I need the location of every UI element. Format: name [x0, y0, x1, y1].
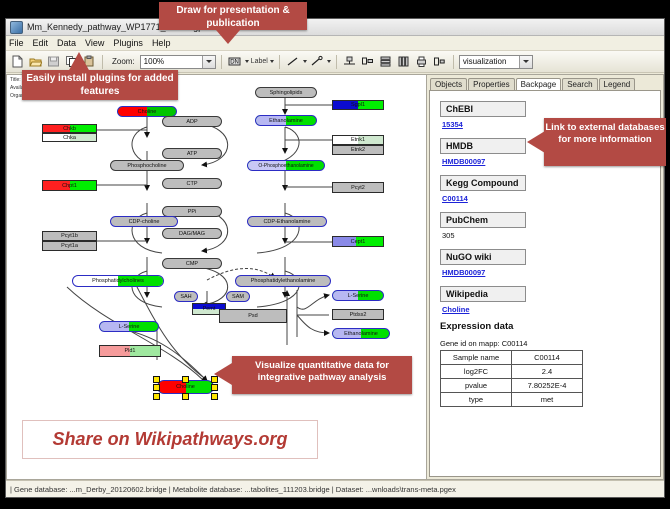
chevron-down-icon[interactable]	[519, 56, 532, 68]
menu-item-file[interactable]: File	[9, 38, 24, 48]
callout-draw: Draw for presentation & publication	[159, 2, 307, 30]
stack-icon[interactable]	[378, 54, 394, 70]
db-header-hmdb: HMDB	[440, 138, 526, 154]
interaction-dropdown[interactable]	[327, 60, 331, 63]
order-icon[interactable]	[396, 54, 412, 70]
node-sam[interactable]: SAM	[226, 291, 250, 302]
gene-pcyt2[interactable]: Pcyt2	[332, 182, 384, 193]
status-bar-text: | Gene database: ...m_Derby_20120602.bri…	[10, 485, 456, 494]
gene-etnk1[interactable]: Etnk1	[332, 135, 384, 145]
menu-item-view[interactable]: View	[85, 38, 104, 48]
db-link-kegg[interactable]: C00114	[442, 194, 660, 203]
gene-psd[interactable]: Psd	[219, 309, 287, 323]
pathvisio-icon	[10, 21, 23, 34]
menu-item-edit[interactable]: Edit	[33, 38, 49, 48]
print-icon[interactable]	[414, 54, 430, 70]
gene-pld1[interactable]: Pld1	[99, 345, 161, 357]
db-section-nugo: NuGO wiki HMDB00097	[440, 247, 660, 277]
callout-plugins-pointer	[68, 52, 90, 72]
gene-chka[interactable]: Chka	[42, 133, 97, 142]
gene-cept1[interactable]: Cept1	[332, 236, 384, 247]
expression-table: Sample name C00114 log2FC 2.4 pvalue 7.8…	[440, 350, 583, 407]
callout-share: Share on Wikipathways.org	[22, 420, 318, 459]
line-dropdown[interactable]	[303, 60, 307, 63]
zoom-combobox[interactable]: 100%	[140, 55, 216, 69]
toolbar-separator	[221, 55, 222, 69]
callout-links: Link to external databases for more info…	[544, 118, 666, 166]
exp-label-pvalue: pvalue	[441, 379, 512, 393]
gene-sgpl1[interactable]: Sgpl1	[332, 100, 384, 110]
node-phosphatidylcholines[interactable]: Phosphatidylcholines	[72, 275, 164, 287]
db-header-wikipedia: Wikipedia	[440, 286, 526, 302]
db-header-chebi: ChEBI	[440, 101, 526, 117]
node-sah[interactable]: SAH	[174, 291, 198, 302]
toolbar-separator	[279, 55, 280, 69]
menu-item-plugins[interactable]: Plugins	[113, 38, 143, 48]
db-link-wikipedia[interactable]: Choline	[442, 305, 660, 314]
status-bar: | Gene database: ...m_Derby_20120602.bri…	[6, 480, 664, 497]
menu-item-data[interactable]: Data	[57, 38, 76, 48]
sidebar-tabs: Objects Properties Backpage Search Legen…	[427, 75, 663, 90]
node-ethanolamine-right[interactable]: Ethanolamine	[332, 328, 390, 339]
tab-legend[interactable]: Legend	[599, 78, 636, 90]
node-phosphocholine[interactable]: Phosphocholine	[110, 160, 184, 171]
save-icon[interactable]	[45, 54, 61, 70]
open-icon[interactable]	[27, 54, 43, 70]
node-cmp[interactable]: CMP	[162, 258, 222, 269]
node-ctp[interactable]: CTP	[162, 178, 222, 189]
table-row: pvalue 7.80252E-4	[441, 379, 583, 393]
datanode-icon[interactable]: DN	[227, 54, 243, 70]
callout-plugins: Easily install plugins for added feature…	[22, 70, 178, 100]
datanode-dropdown[interactable]	[245, 60, 249, 63]
callout-links-pointer	[527, 131, 545, 153]
node-l-serine-right[interactable]: L-Serine	[332, 290, 384, 301]
visualization-combobox[interactable]: visualization	[459, 55, 533, 69]
gene-chpt1[interactable]: Chpt1	[42, 180, 97, 191]
exp-value-pvalue: 7.80252E-4	[512, 379, 583, 393]
exp-label-log2fc: log2FC	[441, 365, 512, 379]
db-section-wikipedia: Wikipedia Choline	[440, 284, 660, 314]
toolbar-separator	[453, 55, 454, 69]
toolbar-separator	[102, 55, 103, 69]
node-phosphatidylethanolamine[interactable]: Phosphatidylethanolamine	[235, 275, 331, 287]
interaction-icon[interactable]	[309, 54, 325, 70]
expression-data-heading: Expression data	[440, 321, 660, 332]
exp-label-type: type	[441, 393, 512, 407]
node-sphingolipids[interactable]: Sphingolipids	[255, 87, 317, 98]
menu-item-help[interactable]: Help	[152, 38, 171, 48]
align-icon[interactable]	[342, 54, 358, 70]
exp-value-sample: C00114	[512, 351, 583, 365]
title-bar: Mm_Kennedy_pathway_WP1771_45176.gpml - P…	[6, 19, 664, 36]
callout-draw-pointer	[216, 30, 240, 44]
node-ethanolamine-top[interactable]: Ethanolamine	[255, 115, 317, 126]
tab-objects[interactable]: Objects	[430, 78, 467, 90]
node-o-phosphoethanolamine[interactable]: O-Phosphoethanolamine	[247, 160, 325, 171]
node-dag-mag[interactable]: DAG/MAG	[162, 228, 222, 239]
table-row: Sample name C00114	[441, 351, 583, 365]
db-link-nugo[interactable]: HMDB00097	[442, 268, 660, 277]
gene-etnk2[interactable]: Etnk2	[332, 145, 384, 155]
callout-visualize-pointer	[214, 363, 232, 385]
svg-text:DN: DN	[230, 60, 239, 66]
node-adp[interactable]: ADP	[162, 116, 222, 127]
gene-pcyt1b[interactable]: Pcyt1b	[42, 231, 97, 241]
db-section-pubchem: PubChem 305	[440, 210, 660, 240]
tab-properties[interactable]: Properties	[468, 78, 514, 90]
toolbar-separator	[336, 55, 337, 69]
exp-value-type: met	[512, 393, 583, 407]
line-icon[interactable]	[285, 54, 301, 70]
menu-bar: File Edit Data View Plugins Help	[6, 36, 664, 51]
exp-value-log2fc: 2.4	[512, 365, 583, 379]
new-icon[interactable]	[9, 54, 25, 70]
node-l-serine-left[interactable]: L-Serine	[99, 321, 159, 332]
gene-ptdss2[interactable]: Ptdss2	[332, 309, 384, 320]
db-header-nugo: NuGO wiki	[440, 249, 526, 265]
table-row: log2FC 2.4	[441, 365, 583, 379]
label-tool[interactable]: Label	[251, 58, 274, 65]
gene-id-line: Gene id on mapp: C00114	[440, 339, 660, 348]
gene-chkb[interactable]: Chkb	[42, 124, 97, 133]
db-section-kegg: Kegg Compound C00114	[440, 173, 660, 203]
zoom-value: 100%	[144, 57, 164, 66]
visualization-value: visualization	[463, 57, 507, 66]
node-cdp-choline[interactable]: CDP-choline	[110, 216, 178, 227]
group-icon[interactable]	[360, 54, 376, 70]
db-value-pubchem: 305	[442, 231, 660, 240]
layout-icon[interactable]	[432, 54, 448, 70]
callout-visualize: Visualize quantitative data for integrat…	[232, 356, 412, 394]
node-atp[interactable]: ATP	[162, 148, 222, 159]
exp-label-sample: Sample name	[441, 351, 512, 365]
node-cdp-ethanolamine[interactable]: CDP-Ethanolamine	[247, 216, 327, 227]
chevron-down-icon[interactable]	[202, 56, 215, 68]
zoom-label: Zoom:	[112, 57, 135, 66]
gene-pcyt1a[interactable]: Pcyt1a	[42, 241, 97, 251]
db-header-kegg: Kegg Compound	[440, 175, 526, 191]
db-header-pubchem: PubChem	[440, 212, 526, 228]
tab-search[interactable]: Search	[562, 78, 597, 90]
label-tool-text: Label	[251, 58, 268, 65]
table-row: type met	[441, 393, 583, 407]
